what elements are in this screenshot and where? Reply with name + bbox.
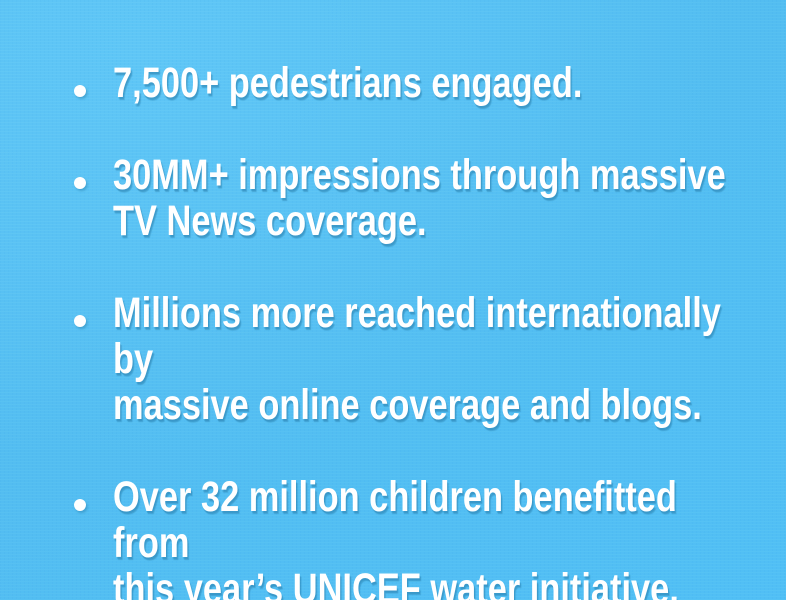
bullet-text-international-online-reach: Millions more reached internationally by… <box>113 290 760 428</box>
bullet-text-unicef-water-initiative: Over 32 million children benefitted from… <box>113 474 760 600</box>
slide-canvas: 7,500+ pedestrians engaged. 30MM+ impres… <box>0 0 786 600</box>
bullet-text-pedestrians-engaged: 7,500+ pedestrians engaged. <box>113 60 760 106</box>
bullet-text-impressions-tv-news: 30MM+ impressions through massive TV New… <box>113 152 760 244</box>
bullet-point-icon <box>74 315 86 327</box>
list-item: Millions more reached internationally by… <box>62 290 760 428</box>
results-bullet-list: 7,500+ pedestrians engaged. 30MM+ impres… <box>62 60 760 600</box>
bullet-point-icon <box>74 499 86 511</box>
bullet-point-icon <box>74 85 86 97</box>
list-item: 7,500+ pedestrians engaged. <box>62 60 760 106</box>
list-item: 30MM+ impressions through massive TV New… <box>62 152 760 244</box>
bullet-point-icon <box>74 177 86 189</box>
list-item: Over 32 million children benefitted from… <box>62 474 760 600</box>
